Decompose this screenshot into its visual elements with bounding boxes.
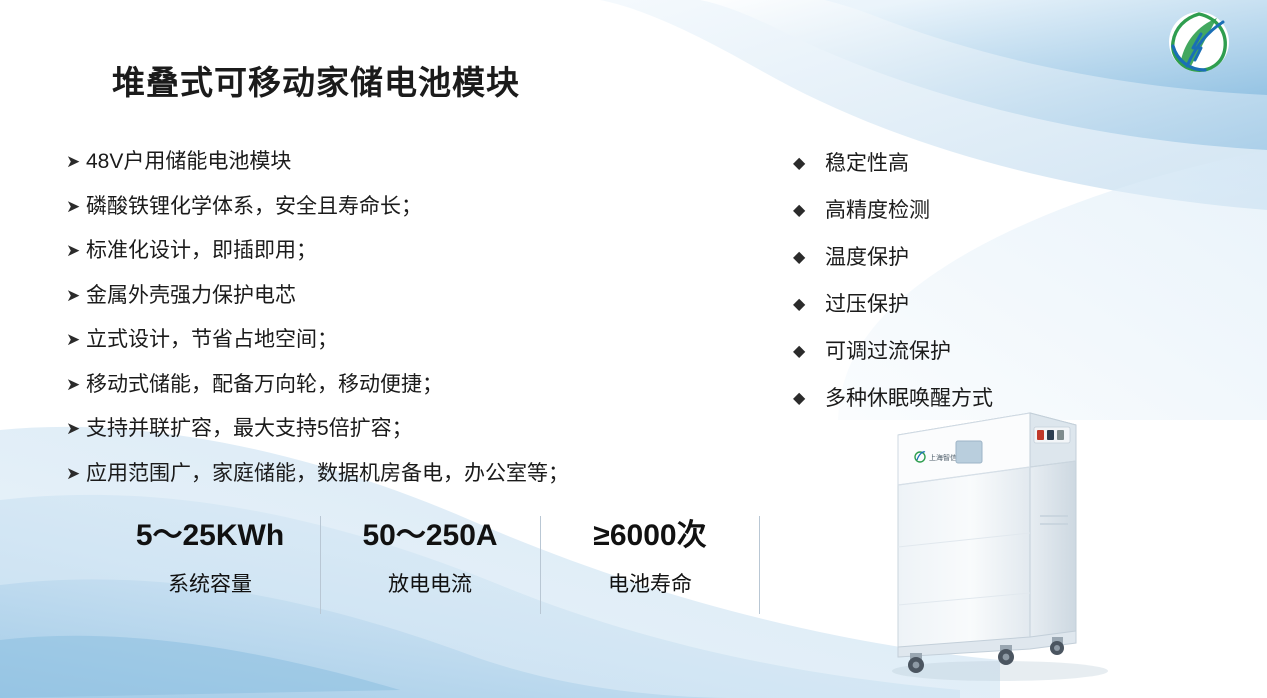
list-item-label: 金属外壳强力保护电芯 <box>86 282 296 309</box>
list-item: ➤ 金属外壳强力保护电芯 <box>66 282 706 309</box>
diamond-bullet-icon: ◆ <box>793 291 825 318</box>
arrow-bullet-icon: ➤ <box>66 326 86 353</box>
list-item-label: 过压保护 <box>825 291 909 318</box>
list-item-label: 支持并联扩容，最大支持5倍扩容； <box>86 415 413 442</box>
list-item-label: 稳定性高 <box>825 150 909 177</box>
feature-list-left: ➤ 48V户用储能电池模块 ➤ 磷酸铁锂化学体系，安全且寿命长； ➤ 标准化设计… <box>66 148 706 504</box>
stat-item-capacity: 5～25KWh 系统容量 <box>100 510 320 620</box>
diamond-bullet-icon: ◆ <box>793 385 825 412</box>
list-item-label: 高精度检测 <box>825 197 930 224</box>
caster-wheel-icon <box>998 645 1014 665</box>
stat-label: 电池寿命 <box>540 562 760 608</box>
company-logo <box>1157 8 1241 80</box>
list-item: ◆ 稳定性高 <box>793 150 1093 177</box>
product-brand-text: 上海智信 <box>929 453 957 462</box>
company-leaf-logo-icon <box>1157 8 1241 80</box>
stat-value: ≥6000次 <box>540 510 760 562</box>
stat-label: 系统容量 <box>100 562 320 608</box>
list-item: ➤ 支持并联扩容，最大支持5倍扩容； <box>66 415 706 442</box>
diamond-bullet-icon: ◆ <box>793 338 825 365</box>
diamond-bullet-icon: ◆ <box>793 197 825 224</box>
list-item: ➤ 立式设计，节省占地空间； <box>66 326 706 353</box>
stat-value: 50～250A <box>320 510 540 562</box>
arrow-bullet-icon: ➤ <box>66 237 86 264</box>
list-item-label: 可调过流保护 <box>825 338 951 365</box>
list-item-label: 温度保护 <box>825 244 909 271</box>
arrow-bullet-icon: ➤ <box>66 415 86 442</box>
list-item: ◆ 过压保护 <box>793 291 1093 318</box>
list-item: ➤ 48V户用储能电池模块 <box>66 148 706 175</box>
stat-divider <box>759 516 760 614</box>
slide-canvas: 堆叠式可移动家储电池模块 ➤ 48V户用储能电池模块 ➤ 磷酸铁锂化学体系，安全… <box>0 0 1267 698</box>
list-item-label: 48V户用储能电池模块 <box>86 148 291 175</box>
list-item-label: 应用范围广，家庭储能，数据机房备电，办公室等； <box>86 460 569 487</box>
list-item: ◆ 高精度检测 <box>793 197 1093 224</box>
list-item: ➤ 移动式储能，配备万向轮，移动便捷； <box>66 371 706 398</box>
diamond-bullet-icon: ◆ <box>793 150 825 177</box>
list-item: ◆ 温度保护 <box>793 244 1093 271</box>
list-item: ➤ 磷酸铁锂化学体系，安全且寿命长； <box>66 193 706 220</box>
arrow-bullet-icon: ➤ <box>66 460 86 487</box>
list-item: ➤ 应用范围广，家庭储能，数据机房备电，办公室等； <box>66 460 706 487</box>
battery-cabinet-illustration: 上海智信 <box>880 395 1140 685</box>
feature-list-right: ◆ 稳定性高 ◆ 高精度检测 ◆ 温度保护 ◆ 过压保护 ◆ 可调过流保护 ◆ … <box>793 150 1093 432</box>
caster-wheel-icon <box>1050 637 1064 655</box>
list-item-label: 磷酸铁锂化学体系，安全且寿命长； <box>86 193 422 220</box>
caster-wheel-icon <box>908 653 924 673</box>
product-image: 上海智信 <box>880 395 1140 685</box>
stat-item-lifespan: ≥6000次 电池寿命 <box>540 510 760 620</box>
arrow-bullet-icon: ➤ <box>66 148 86 175</box>
list-item: ➤ 标准化设计，即插即用； <box>66 237 706 264</box>
diamond-bullet-icon: ◆ <box>793 244 825 271</box>
list-item-label: 立式设计，节省占地空间； <box>86 326 338 353</box>
arrow-bullet-icon: ➤ <box>66 371 86 398</box>
stat-label: 放电电流 <box>320 562 540 608</box>
arrow-bullet-icon: ➤ <box>66 282 86 309</box>
list-item-label: 移动式储能，配备万向轮，移动便捷； <box>86 371 443 398</box>
page-title: 堆叠式可移动家储电池模块 <box>112 56 520 104</box>
stat-value: 5～25KWh <box>100 510 320 562</box>
list-item-label: 标准化设计，即插即用； <box>86 237 317 264</box>
spec-stats: 5～25KWh 系统容量 50～250A 放电电流 ≥6000次 电池寿命 <box>100 510 760 620</box>
list-item: ◆ 可调过流保护 <box>793 338 1093 365</box>
arrow-bullet-icon: ➤ <box>66 193 86 220</box>
stat-item-current: 50～250A 放电电流 <box>320 510 540 620</box>
